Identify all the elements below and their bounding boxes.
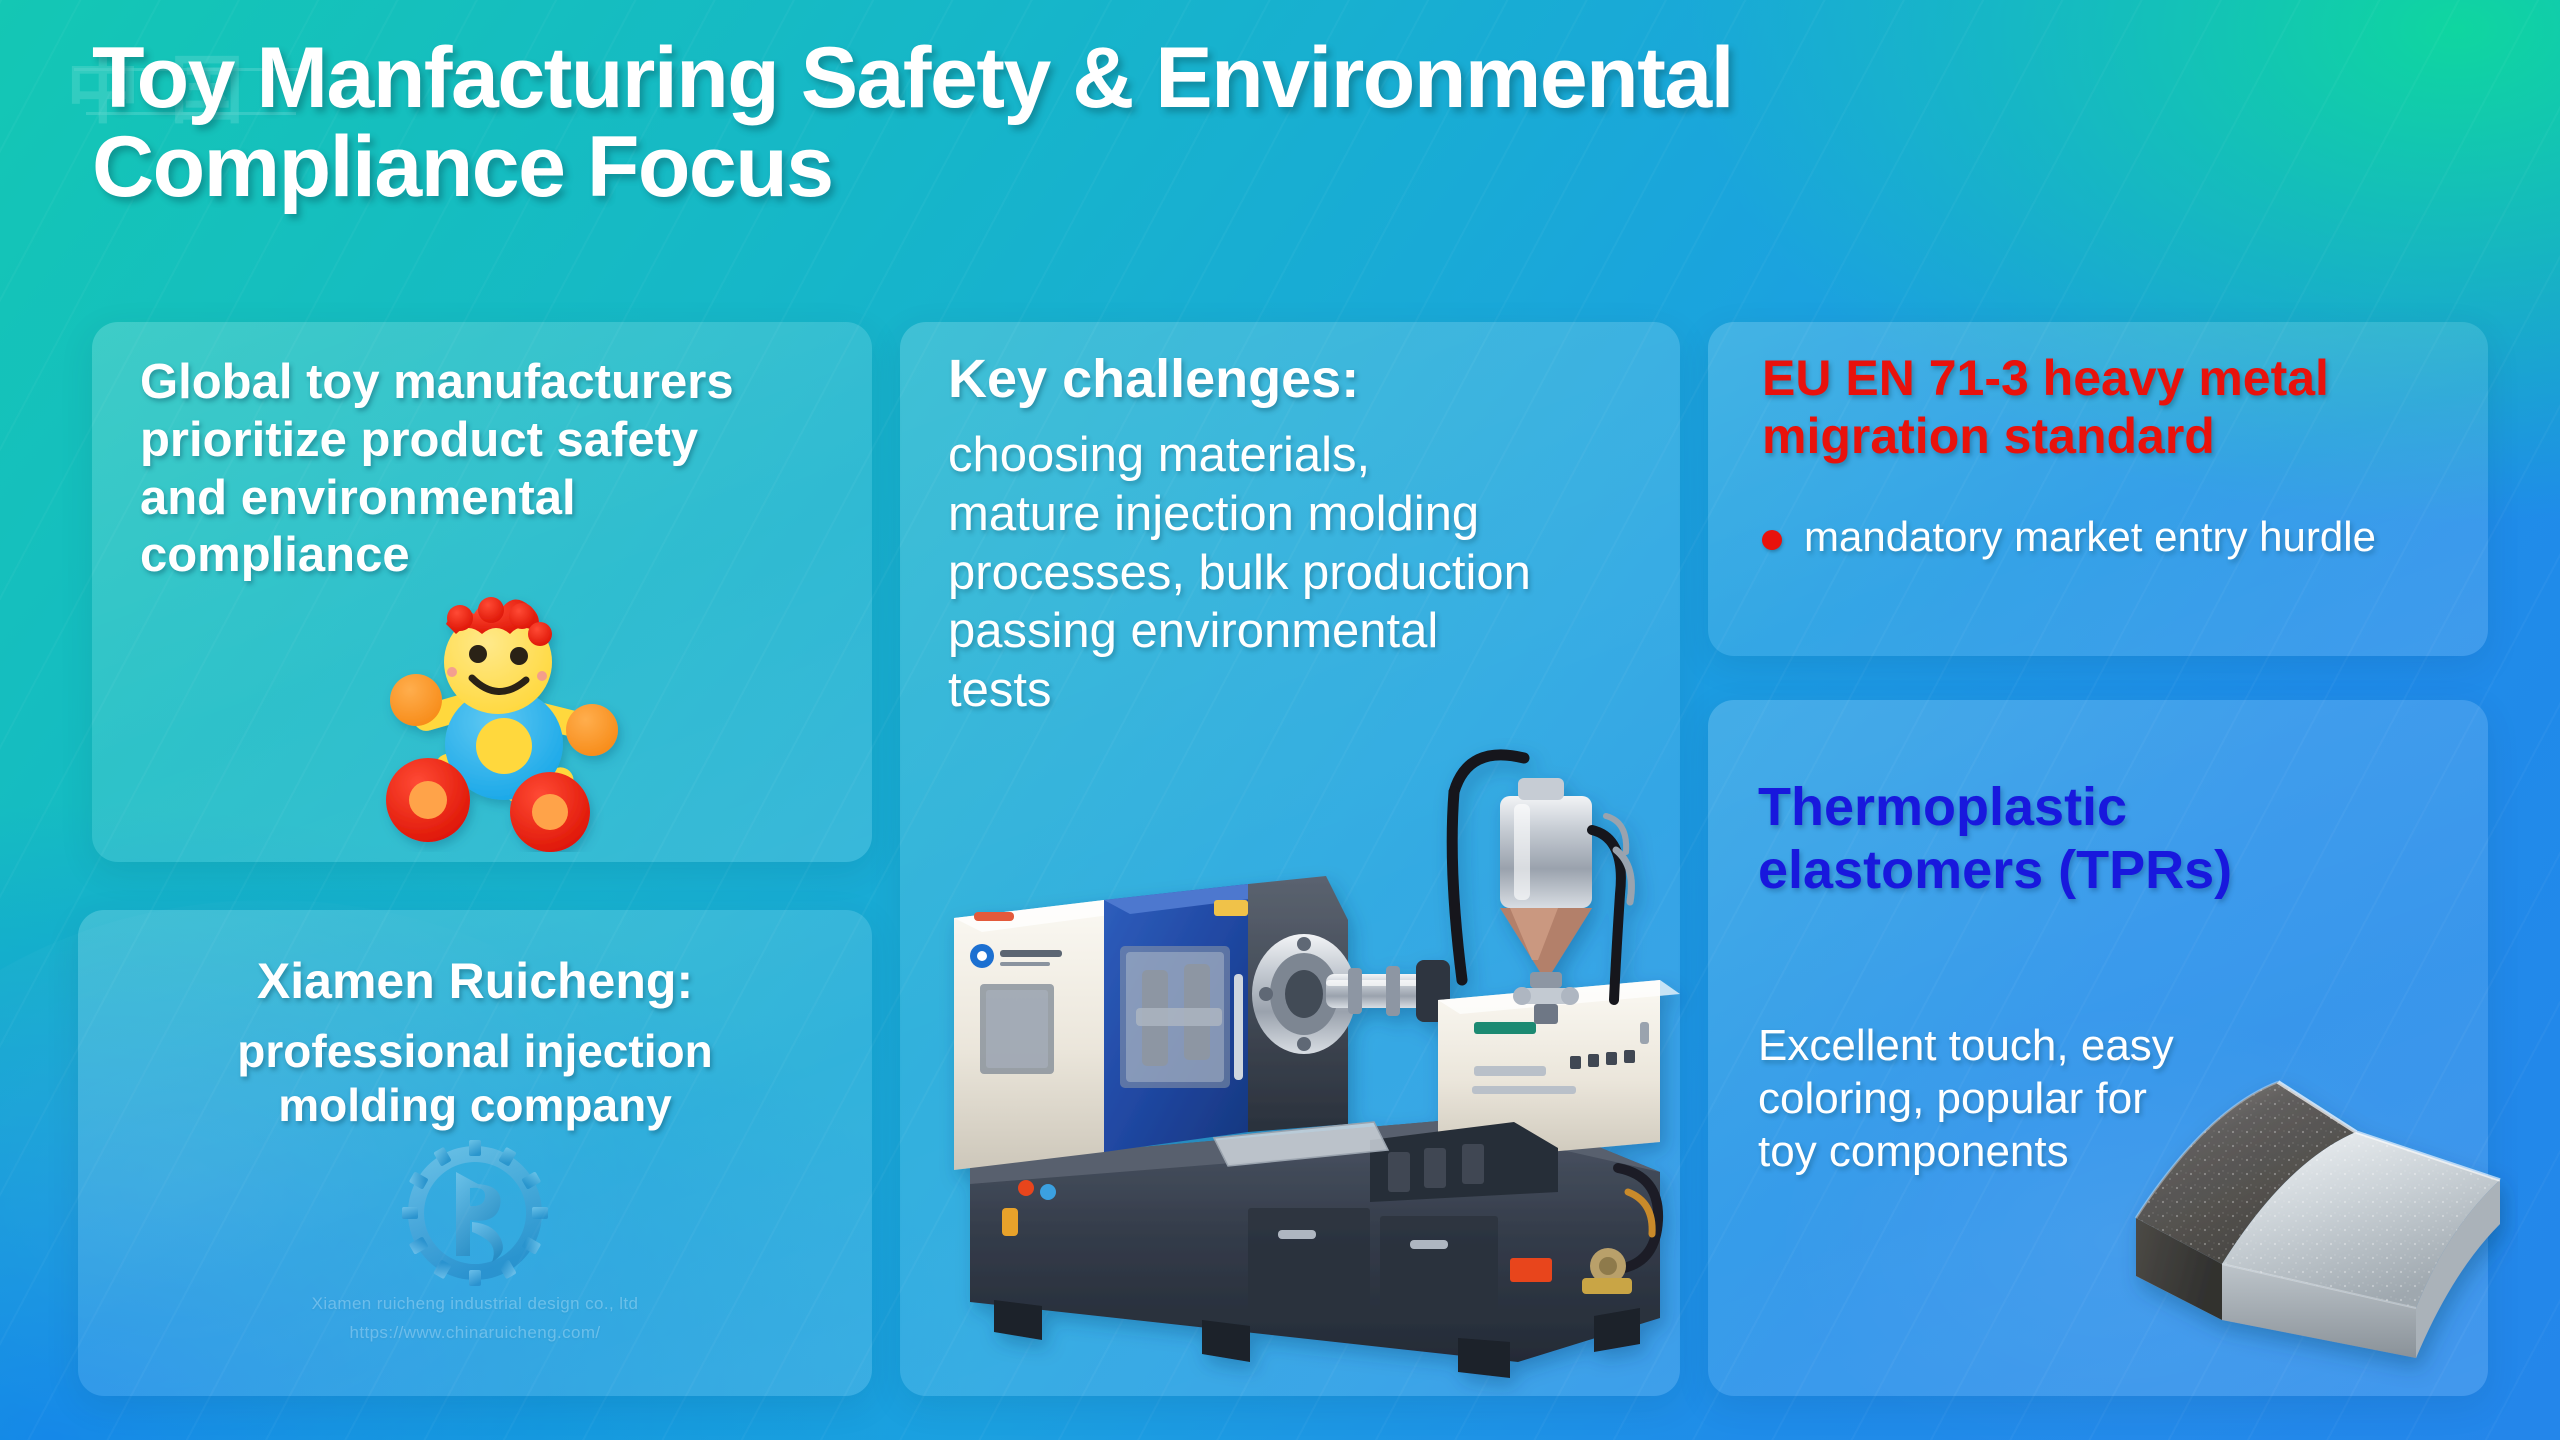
injection-molding-machine-image	[918, 722, 1708, 1396]
bullet-dot-icon	[1762, 530, 1782, 550]
eu-bullet-text: mandatory market entry hurdle	[1804, 512, 2376, 562]
toy-figure-icon	[376, 590, 632, 852]
infographic-canvas: 中 国 Toy Manfacturing Safety & Environmen…	[0, 0, 2560, 1440]
gear-r-logo-icon	[400, 1138, 550, 1288]
card-company: Xiamen Ruicheng: professional injection …	[78, 910, 872, 1396]
eu-bullet-row: mandatory market entry hurdle	[1762, 512, 2462, 562]
company-logo-watermark: Xiamen ruicheng industrial design co., l…	[305, 1138, 645, 1345]
company-logo-url: https://www.chinaruicheng.com/	[305, 1321, 645, 1346]
page-title: Toy Manfacturing Safety & Environmental …	[92, 34, 2512, 213]
tpr-material-sample-image	[2118, 1058, 2518, 1396]
key-challenges-heading: Key challenges:	[948, 348, 1648, 412]
company-subtitle: professional injection molding company	[78, 1024, 872, 1133]
eu-standard-heading: EU EN 71-3 heavy metal migration standar…	[1762, 350, 2452, 465]
tpr-heading: Thermoplastic elastomers (TPRs)	[1758, 776, 2448, 901]
global-manufacturers-text: Global toy manufacturers prioritize prod…	[140, 354, 820, 585]
key-challenges-body: choosing materials, mature injection mol…	[948, 426, 1648, 720]
company-logo-name: Xiamen ruicheng industrial design co., l…	[305, 1292, 645, 1317]
company-heading: Xiamen Ruicheng:	[78, 952, 872, 1011]
card-eu-standard: EU EN 71-3 heavy metal migration standar…	[1708, 322, 2488, 656]
